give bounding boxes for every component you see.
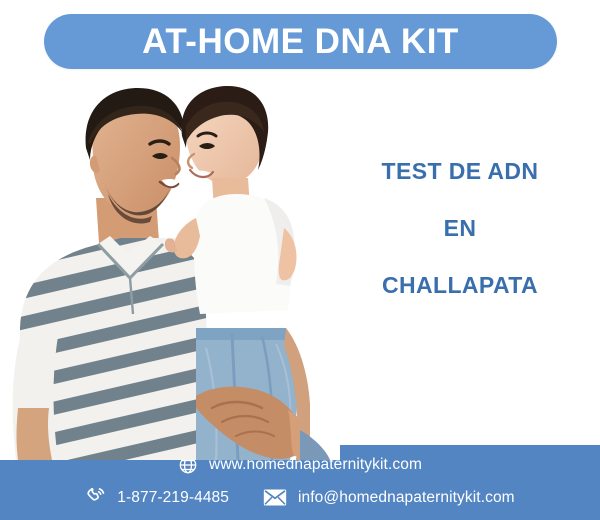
headline-line-3: CHALLAPATA (330, 274, 590, 297)
headline-line-1: TEST DE ADN (330, 160, 590, 183)
headline-block: TEST DE ADN EN CHALLAPATA (330, 160, 590, 297)
email-text: info@homednapaternitykit.com (298, 490, 515, 506)
headline-line-2: EN (330, 217, 590, 240)
email-item[interactable]: info@homednapaternitykit.com (263, 488, 515, 507)
phone-text: 1-877-219-4485 (117, 490, 229, 506)
envelope-icon (263, 488, 287, 507)
poster: AT-HOME DNA KIT TEST DE ADN EN CHALLAPAT… (0, 0, 600, 520)
footer-row-contact: 1-877-219-4485 info@homednapaternitykit.… (0, 487, 600, 508)
family-photo (0, 78, 340, 460)
page-title: AT-HOME DNA KIT (142, 24, 459, 59)
header-banner: AT-HOME DNA KIT (44, 14, 557, 69)
phone-item[interactable]: 1-877-219-4485 (85, 487, 229, 508)
phone-icon (85, 487, 106, 508)
